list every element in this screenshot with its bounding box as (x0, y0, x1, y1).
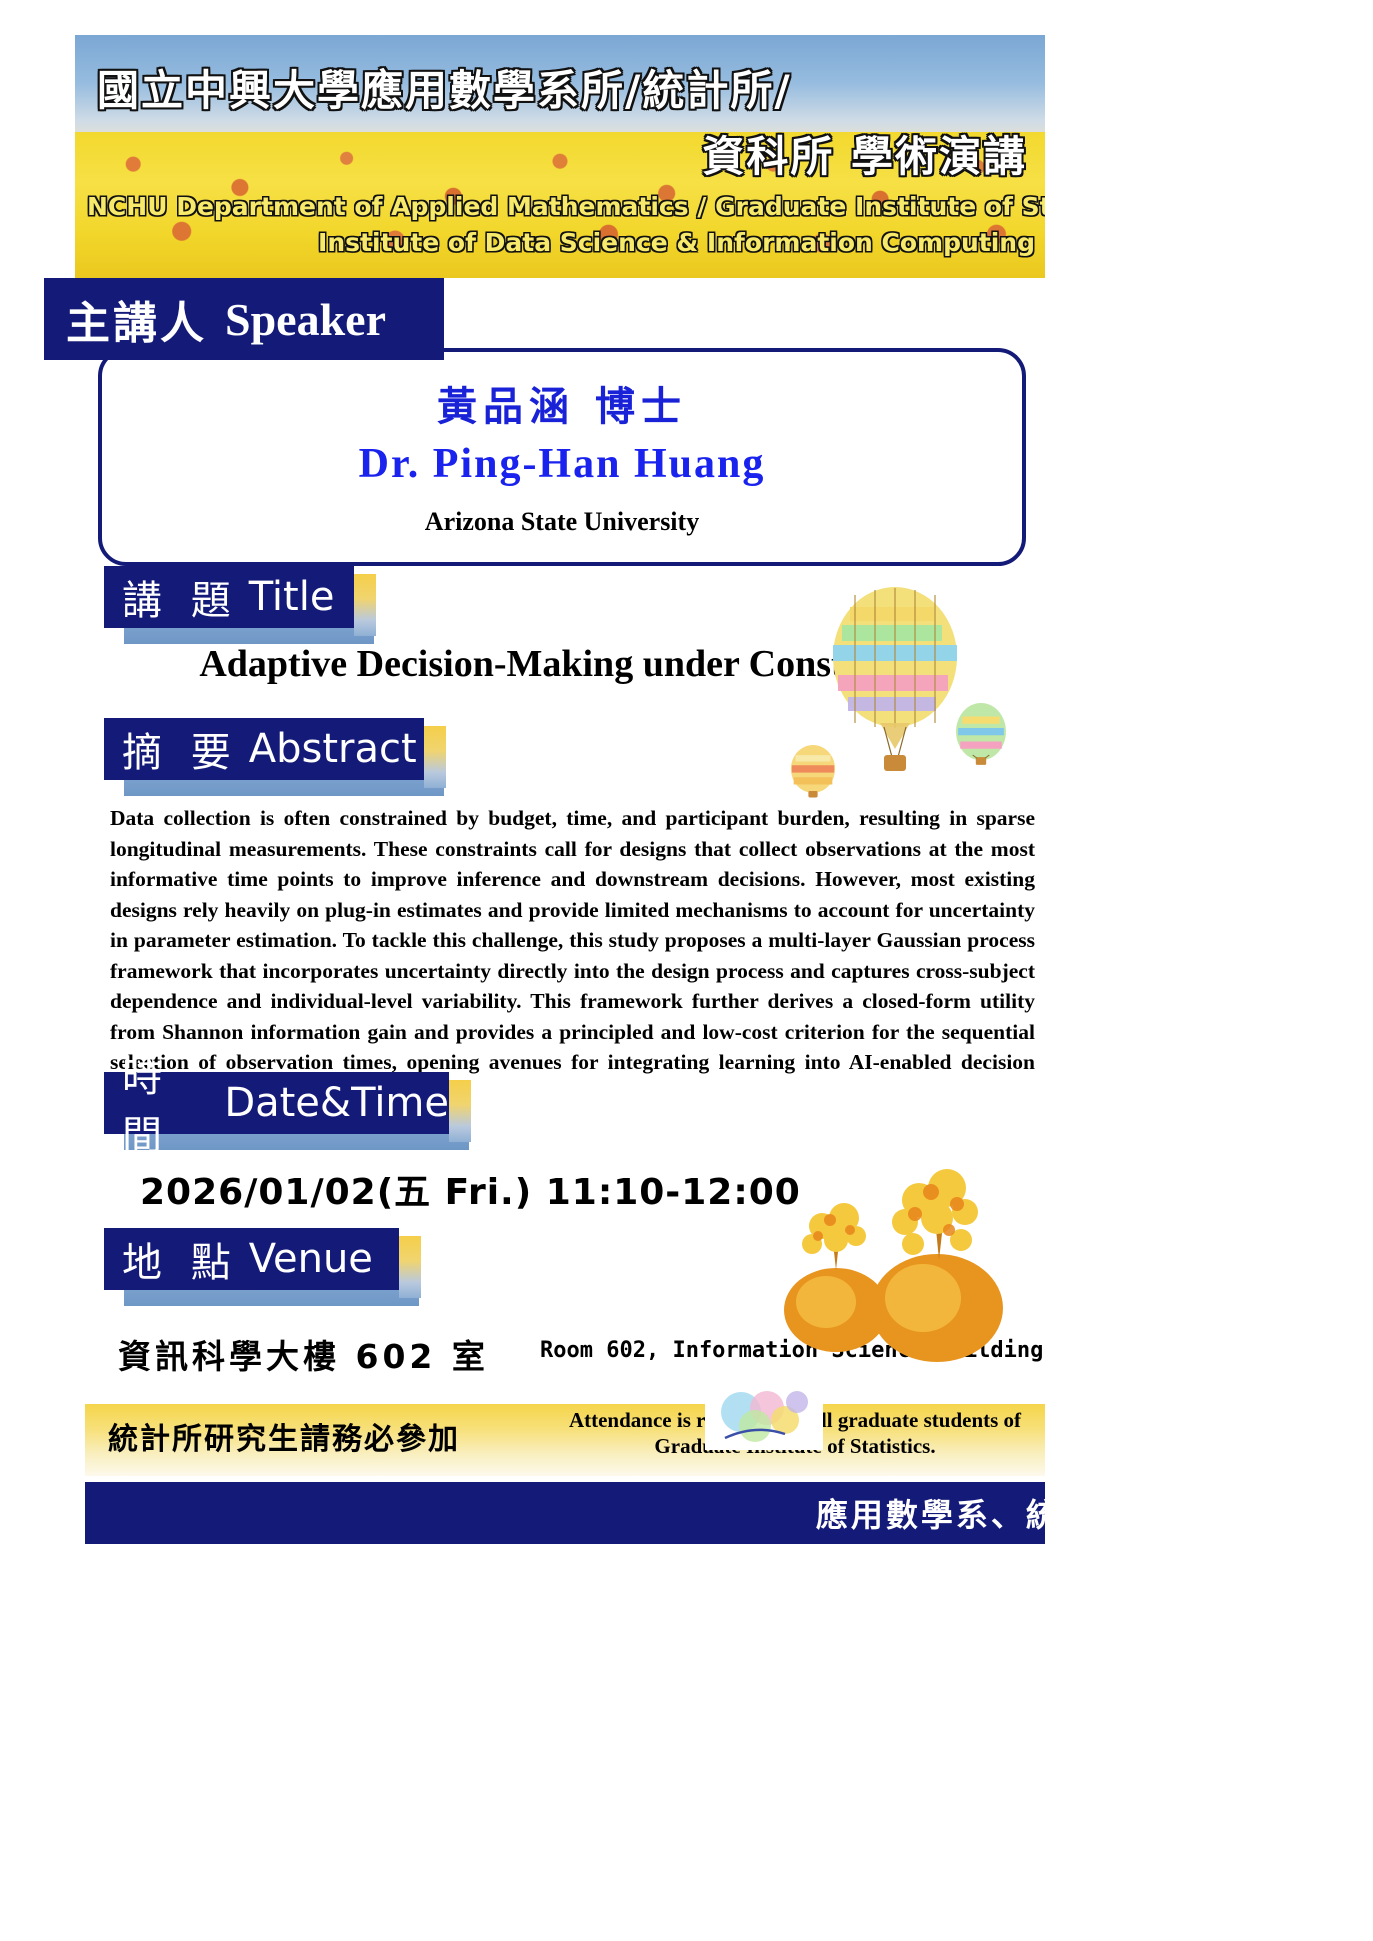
seminar-poster: 國立中興大學應用數學系所/統計所/ 資科所 學術演講 NCHU Departme… (0, 0, 1373, 1941)
venue-label-cn: 地 點 (122, 1230, 239, 1288)
venue-value-cn: 資訊科學大樓 602 室 (118, 1330, 489, 1378)
banner-body: 講 題 Title (104, 566, 354, 628)
section-banner-datetime: 時 間 Date&Time (104, 1072, 449, 1134)
abstract-text: Data collection is often constrained by … (110, 803, 1035, 1108)
banner-body: 地 點 Venue (104, 1228, 399, 1290)
title-label-en: Title (249, 574, 335, 620)
speaker-section-label: 主講人 Speaker (44, 278, 444, 360)
datetime-label-cn: 時 間 (122, 1045, 214, 1161)
section-banner-venue: 地 點 Venue (104, 1228, 399, 1290)
speaker-name-cn: 黃品涵 博士 (102, 374, 1022, 432)
header-en-line1: NCHU Department of Applied Mathematics /… (87, 192, 1045, 221)
header-en-line2: Institute of Data Science & Information … (318, 228, 1035, 257)
banner-body: 時 間 Date&Time (104, 1072, 449, 1134)
header-cn-line1: 國立中興大學應用數學系所/統計所/ (97, 57, 792, 118)
hot-air-balloon-decoration (780, 585, 1050, 815)
autumn-tree-decoration (760, 1160, 1030, 1390)
banner-body: 摘 要 Abstract (104, 718, 424, 780)
venue-label-en: Venue (249, 1236, 373, 1282)
section-banner-title: 講 題 Title (104, 566, 354, 628)
speaker-label-en: Speaker (225, 293, 386, 346)
banner-accent-strip (354, 574, 376, 636)
header-cn-line2: 資科所 學術演講 (702, 123, 1027, 184)
title-label-cn: 講 題 (122, 568, 239, 626)
section-banner-abstract: 摘 要 Abstract (104, 718, 424, 780)
speaker-info-box: 黃品涵 博士 Dr. Ping-Han Huang Arizona State … (98, 348, 1026, 566)
banner-accent-strip (424, 726, 446, 788)
banner-accent-strip (449, 1080, 471, 1142)
banner-accent-strip (399, 1236, 421, 1298)
department-logo-icon (705, 1378, 823, 1450)
footer-text: 應用數學系、統計所暨資科所 敬邀 (816, 1490, 1355, 1536)
speaker-affiliation: Arizona State University (102, 507, 1022, 537)
datetime-value: 2026/01/02(五 Fri.) 11:10-12:00 (140, 1163, 801, 1215)
header-text-layer: 國立中興大學應用數學系所/統計所/ 資科所 學術演講 NCHU Departme… (75, 35, 1045, 278)
notice-text-cn: 統計所研究生請務必參加 (108, 1414, 460, 1458)
abstract-label-cn: 摘 要 (122, 720, 239, 778)
speaker-name-en: Dr. Ping-Han Huang (102, 440, 1022, 488)
poster-header: 國立中興大學應用數學系所/統計所/ 資科所 學術演講 NCHU Departme… (75, 35, 1045, 278)
datetime-label-en: Date&Time (224, 1080, 449, 1126)
abstract-label-en: Abstract (249, 726, 417, 772)
speaker-label-cn: 主講人 (66, 287, 207, 351)
